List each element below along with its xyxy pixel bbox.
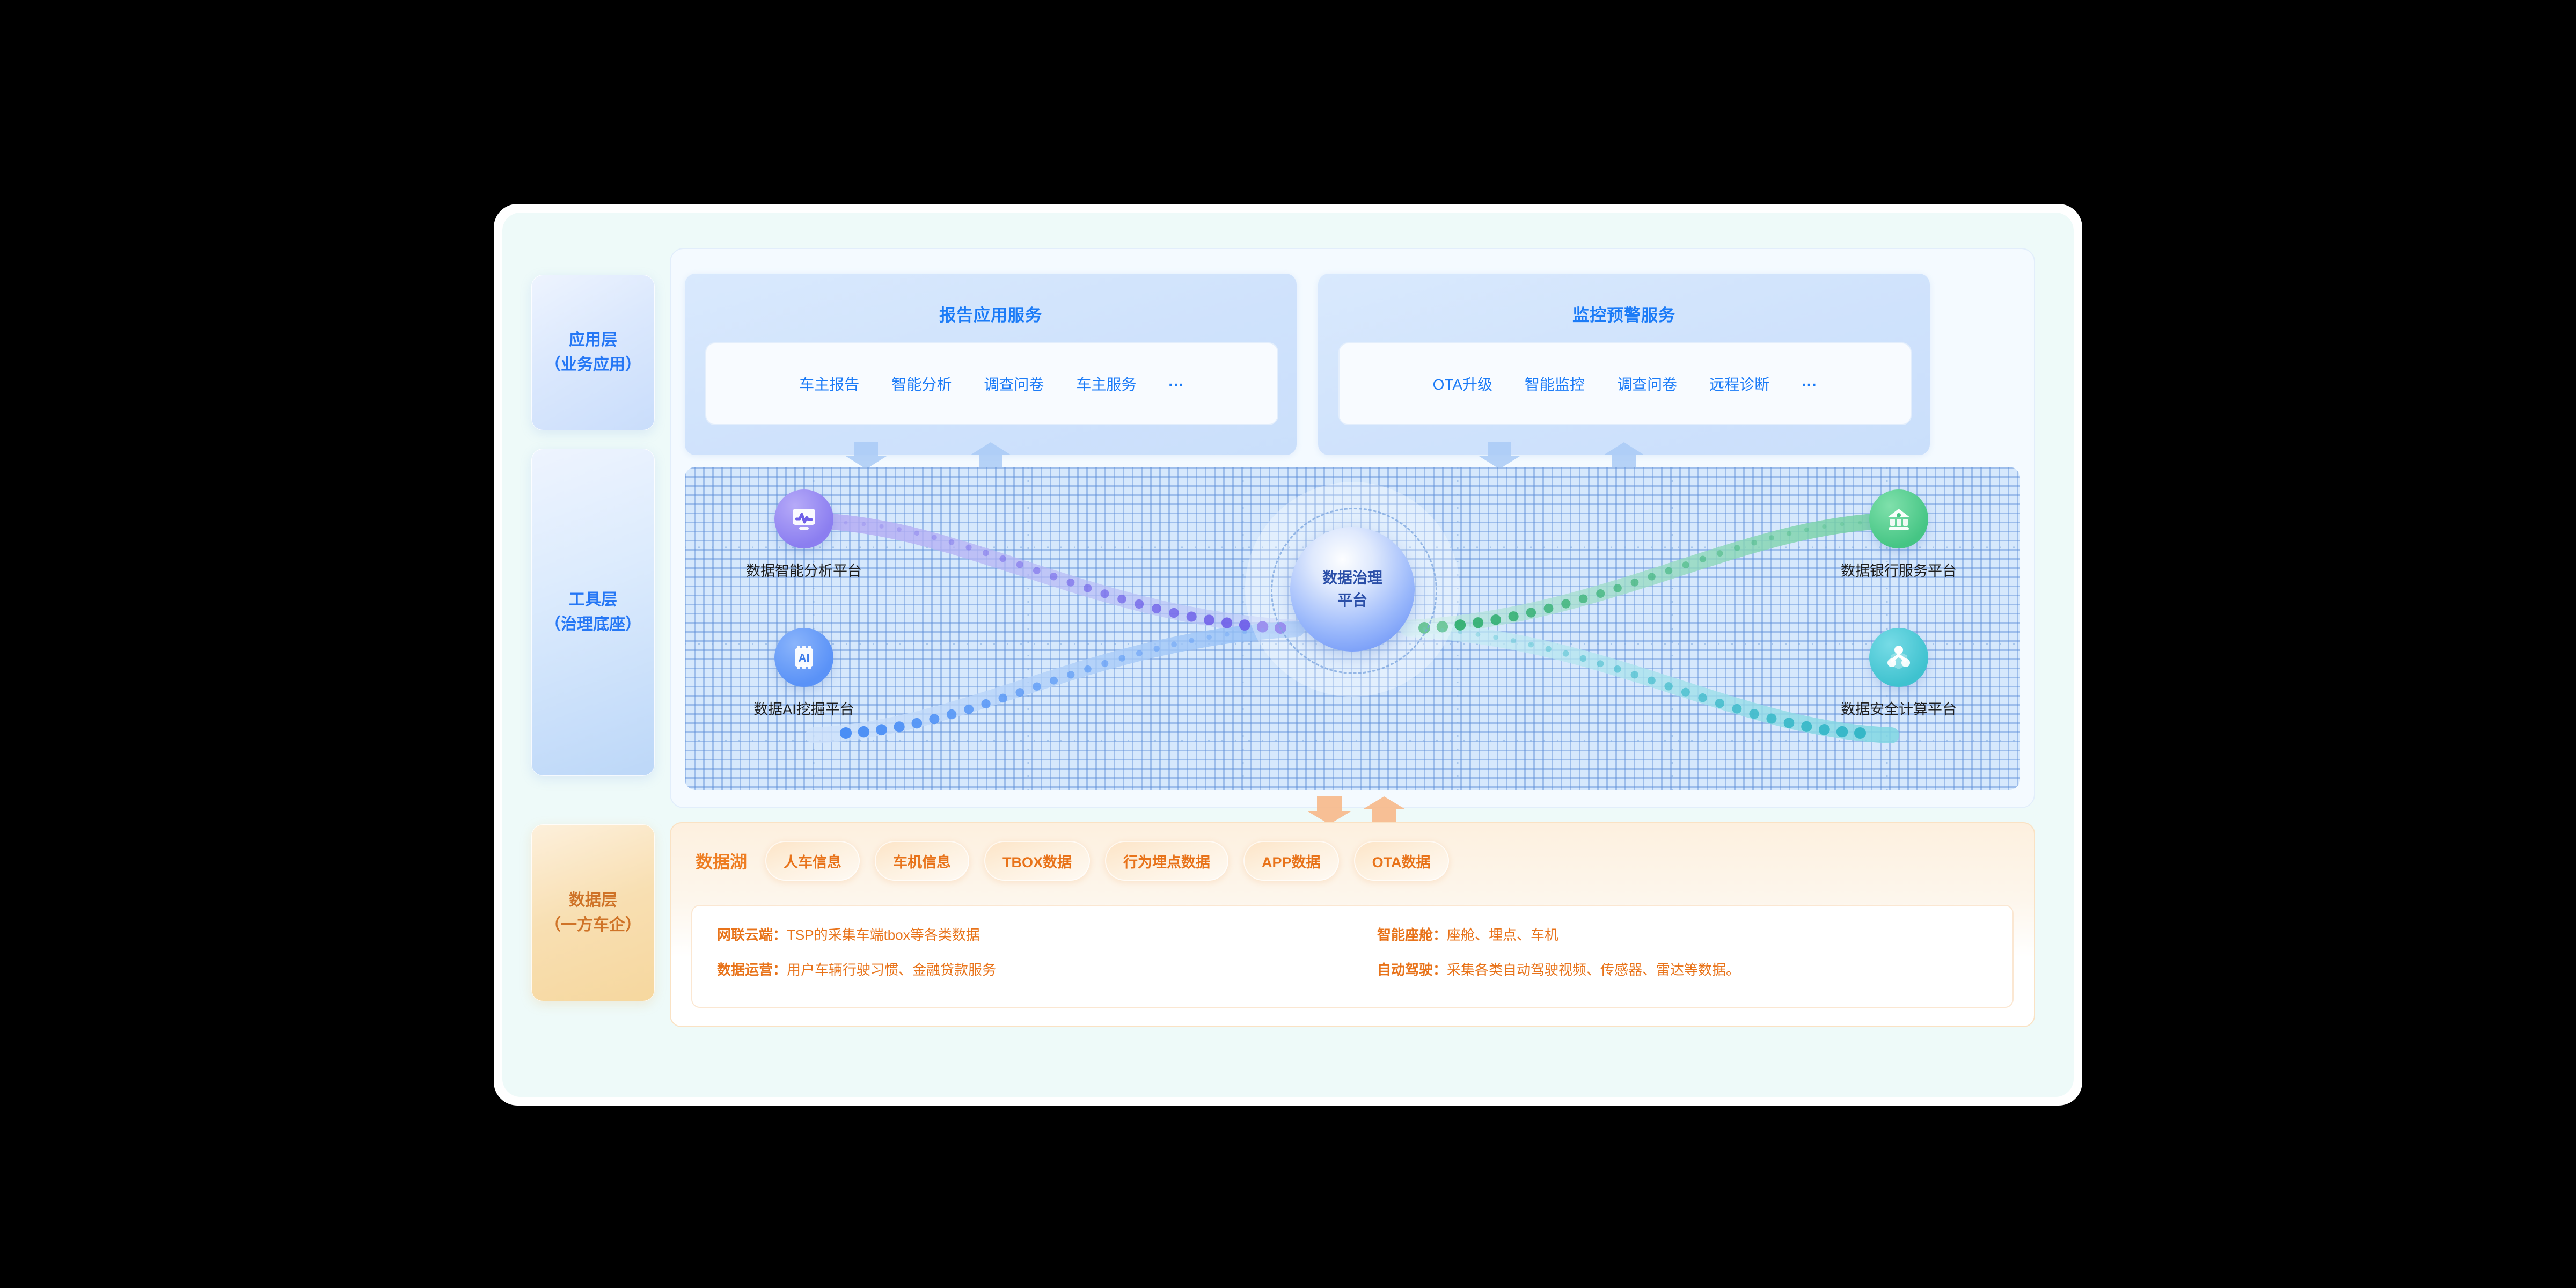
data-lake-title: 数据湖 bbox=[696, 848, 747, 873]
service-item-more[interactable]: ... bbox=[1168, 372, 1184, 395]
layer-subtitle: （业务应用） bbox=[545, 353, 641, 378]
diagram-board: 应用层 （业务应用） 工具层 （治理底座） 数据层 （一方车企） 报告应用服务 … bbox=[502, 213, 2074, 1097]
app-tool-arrows bbox=[685, 442, 2021, 469]
platform-node-analysis[interactable]: 数据智能分析平台 bbox=[745, 489, 863, 580]
platform-node-label: 数据AI挖掘平台 bbox=[745, 698, 863, 719]
platform-node-label: 数据银行服务平台 bbox=[1840, 559, 1958, 580]
service-item[interactable]: OTA升级 bbox=[1433, 373, 1492, 394]
description-text: 座舱、埋点、车机 bbox=[1447, 927, 1558, 943]
description-text: 采集各类自动驾驶视频、传感器、雷达等数据。 bbox=[1447, 962, 1740, 978]
data-source-pill[interactable]: 人车信息 bbox=[765, 841, 860, 881]
arrow-up-icon bbox=[970, 442, 1011, 469]
arrow-down-icon bbox=[846, 442, 887, 469]
description-line: 网联云端：TSP的采集车端tbox等各类数据 bbox=[717, 924, 1352, 944]
layer-name: 应用层 bbox=[569, 328, 617, 353]
description-line: 数据运营：用户车辆行驶习惯、金融贷款服务 bbox=[717, 959, 1352, 979]
secure-node-icon bbox=[1869, 628, 1928, 687]
data-description-box: 网联云端：TSP的采集车端tbox等各类数据 数据运营：用户车辆行驶习惯、金融贷… bbox=[691, 905, 2014, 1008]
layer-subtitle: （治理底座） bbox=[545, 612, 641, 638]
service-item[interactable]: 远程诊断 bbox=[1709, 373, 1769, 394]
service-item[interactable]: 车主服务 bbox=[1076, 373, 1136, 394]
arrow-down-icon bbox=[1479, 442, 1520, 469]
data-source-pill[interactable]: OTA数据 bbox=[1354, 841, 1449, 881]
diagram-card: 应用层 （业务应用） 工具层 （治理底座） 数据层 （一方车企） 报告应用服务 … bbox=[494, 204, 2082, 1106]
layer-chip-application[interactable]: 应用层 （业务应用） bbox=[531, 275, 655, 430]
core-label-line2: 平台 bbox=[1337, 589, 1367, 612]
platform-node-label: 数据安全计算平台 bbox=[1840, 698, 1958, 719]
core-sphere: 数据治理 平台 bbox=[1290, 527, 1415, 652]
layer-chip-data[interactable]: 数据层 （一方车企） bbox=[531, 824, 655, 1001]
service-item-list: 车主报告 智能分析 调查问卷 车主服务 ... bbox=[705, 342, 1278, 425]
arrow-up-icon bbox=[1604, 442, 1644, 469]
svg-text:AI: AI bbox=[799, 652, 810, 664]
description-line: 智能座舱：座舱、埋点、车机 bbox=[1377, 924, 2012, 944]
layer-name: 数据层 bbox=[569, 888, 617, 913]
service-item[interactable]: 智能监控 bbox=[1525, 373, 1585, 394]
description-line: 自动驾驶：采集各类自动驾驶视频、传感器、雷达等数据。 bbox=[1377, 959, 2012, 979]
arrow-down-icon bbox=[1308, 796, 1351, 824]
description-column-left: 网联云端：TSP的采集车端tbox等各类数据 数据运营：用户车辆行驶习惯、金融贷… bbox=[692, 906, 1352, 1007]
description-text: 用户车辆行驶习惯、金融贷款服务 bbox=[787, 962, 996, 978]
service-card-monitor[interactable]: 监控预警服务 OTA升级 智能监控 调查问卷 远程诊断 ... bbox=[1318, 274, 1930, 455]
layer-subtitle: （一方车企） bbox=[545, 913, 641, 938]
service-item[interactable]: 智能分析 bbox=[891, 373, 952, 394]
data-layer-section: 数据湖 人车信息 车机信息 TBOX数据 行为埋点数据 APP数据 OTA数据 … bbox=[670, 822, 2035, 1027]
platform-node-ai[interactable]: AI 数据AI挖掘平台 bbox=[745, 628, 863, 719]
service-item[interactable]: 车主报告 bbox=[799, 373, 859, 394]
description-column-right: 智能座舱：座舱、埋点、车机 自动驾驶：采集各类自动驾驶视频、传感器、雷达等数据。 bbox=[1352, 906, 2012, 1007]
tool-data-arrows bbox=[670, 796, 2033, 824]
description-label: 智能座舱： bbox=[1377, 927, 1447, 943]
data-source-pill[interactable]: 行为埋点数据 bbox=[1105, 841, 1228, 881]
platform-node-security[interactable]: 数据安全计算平台 bbox=[1840, 628, 1958, 719]
core-label-line1: 数据治理 bbox=[1322, 567, 1382, 589]
description-label: 自动驾驶： bbox=[1377, 962, 1447, 978]
arrow-up-icon bbox=[1363, 796, 1406, 824]
ai-chip-icon: AI bbox=[774, 628, 833, 687]
service-card-title: 监控预警服务 bbox=[1318, 302, 1930, 326]
description-label: 数据运营： bbox=[717, 962, 787, 978]
data-lake-bar: 数据湖 人车信息 车机信息 TBOX数据 行为埋点数据 APP数据 OTA数据 bbox=[671, 823, 2034, 898]
data-source-pill[interactable]: APP数据 bbox=[1243, 841, 1339, 881]
service-item-list: OTA升级 智能监控 调查问卷 远程诊断 ... bbox=[1338, 342, 1912, 425]
description-label: 网联云端： bbox=[717, 927, 787, 943]
service-card-report[interactable]: 报告应用服务 车主报告 智能分析 调查问卷 车主服务 ... bbox=[685, 274, 1297, 455]
monitor-chart-icon bbox=[774, 489, 833, 548]
core-platform-node[interactable]: 数据治理 平台 bbox=[1290, 527, 1415, 652]
service-card-title: 报告应用服务 bbox=[685, 302, 1297, 326]
tool-layer-canvas: 数据智能分析平台 AI 数据AI挖掘平台 bbox=[685, 467, 2020, 790]
data-source-pill[interactable]: TBOX数据 bbox=[984, 841, 1090, 881]
layer-chip-tool[interactable]: 工具层 （治理底座） bbox=[531, 449, 655, 776]
description-text: TSP的采集车端tbox等各类数据 bbox=[787, 927, 980, 943]
application-and-tool-group: 报告应用服务 车主报告 智能分析 调查问卷 车主服务 ... 监控预警服务 OT… bbox=[670, 248, 2035, 808]
service-item-more[interactable]: ... bbox=[1802, 372, 1817, 395]
service-item[interactable]: 调查问卷 bbox=[1617, 373, 1677, 394]
platform-node-bank[interactable]: 数据银行服务平台 bbox=[1840, 489, 1958, 580]
service-item[interactable]: 调查问卷 bbox=[984, 373, 1044, 394]
data-source-pill[interactable]: 车机信息 bbox=[875, 841, 969, 881]
layer-name: 工具层 bbox=[569, 588, 617, 613]
bank-building-icon bbox=[1869, 489, 1928, 548]
platform-node-label: 数据智能分析平台 bbox=[745, 559, 863, 580]
